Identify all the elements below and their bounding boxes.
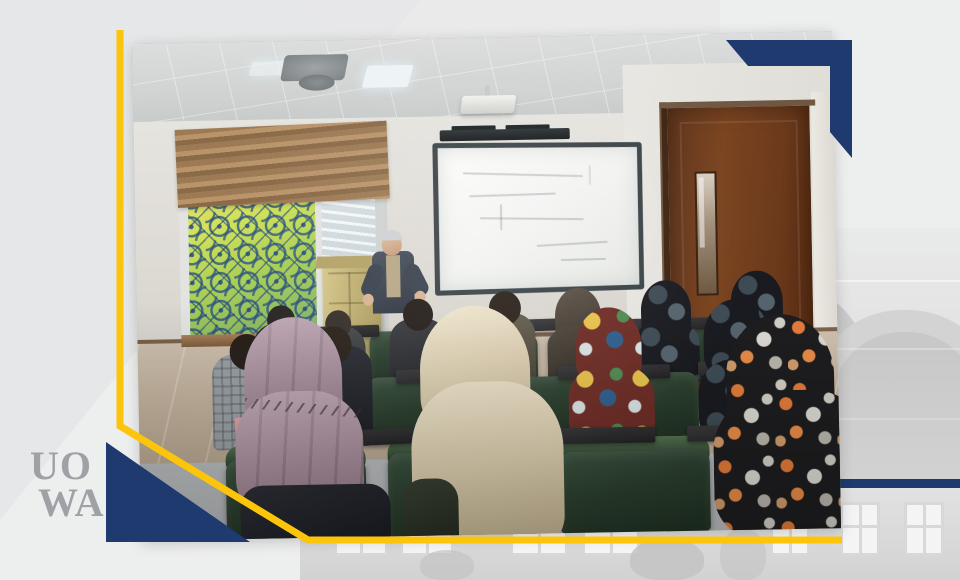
window-lattice-pane bbox=[187, 193, 318, 337]
window-blinds[interactable] bbox=[175, 121, 390, 208]
lecture-photo bbox=[132, 31, 841, 541]
whiteboard bbox=[432, 142, 644, 296]
door-glass-panel bbox=[694, 171, 718, 295]
uowa-logo: UO WA bbox=[30, 448, 122, 526]
logo-line-2: WA bbox=[38, 485, 122, 522]
poster-canvas: UO WA bbox=[0, 0, 960, 580]
projector-icon bbox=[460, 95, 516, 114]
